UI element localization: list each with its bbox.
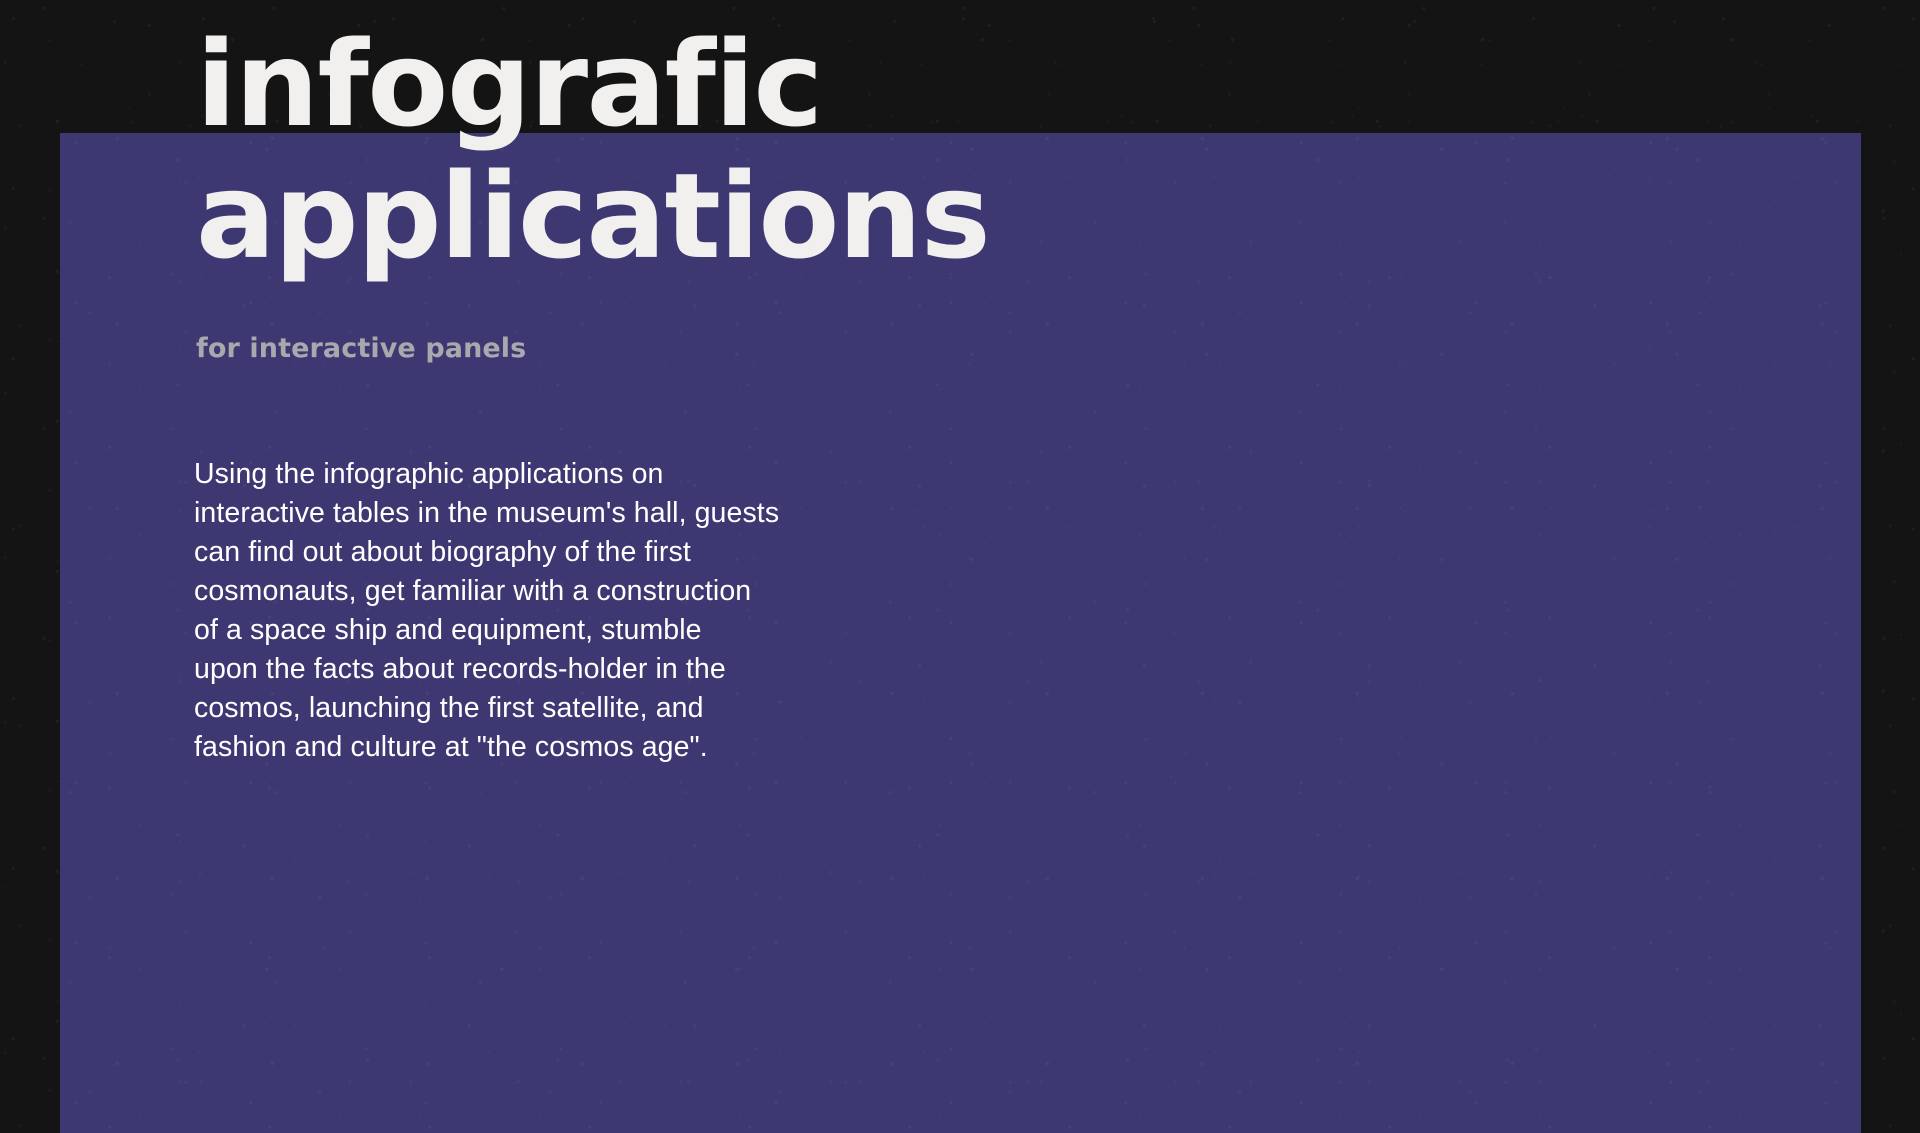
page-title: infografic applications — [196, 18, 1496, 282]
presentation-slide: infografic applications for interactive … — [0, 0, 1920, 1133]
description-paragraph: Using the infographic applications on in… — [194, 455, 994, 767]
page-subtitle: for interactive panels — [196, 333, 526, 364]
